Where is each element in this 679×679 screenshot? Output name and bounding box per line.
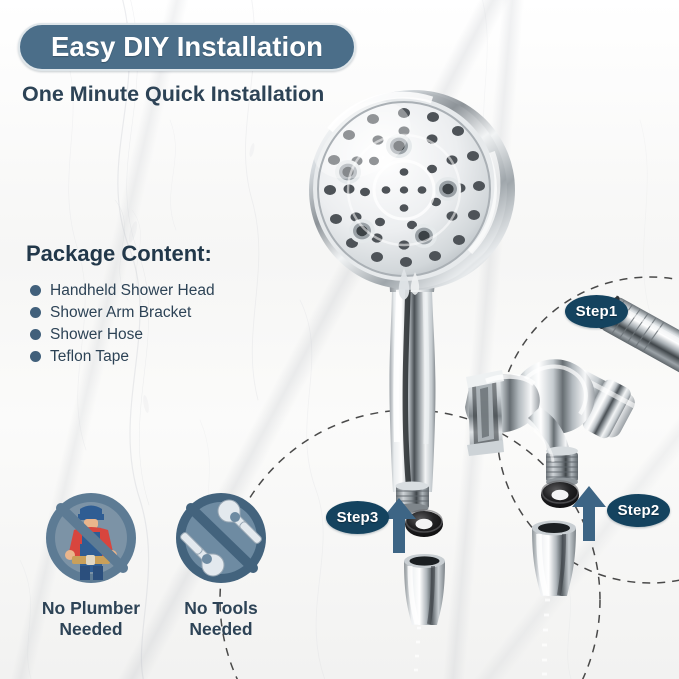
feature-no-tools: No Tools Needed bbox=[166, 492, 276, 640]
no-plumber-icon bbox=[36, 492, 146, 584]
feature-caption: No Tools Needed bbox=[166, 598, 276, 640]
title-badge: Easy DIY Installation bbox=[18, 23, 356, 71]
step-badge-1-label: Step1 bbox=[576, 303, 618, 320]
feature-caption-line2: Needed bbox=[36, 619, 146, 640]
bullet-icon bbox=[30, 307, 41, 318]
list-item: Handheld Shower Head bbox=[30, 281, 215, 300]
step-badge-2-label: Step2 bbox=[618, 502, 660, 519]
package-content-list: Handheld Shower Head Shower Arm Bracket … bbox=[30, 281, 215, 369]
step-badge-3-label: Step3 bbox=[337, 509, 379, 526]
list-item: Shower Hose bbox=[30, 325, 215, 344]
bullet-icon bbox=[30, 285, 41, 296]
feature-caption: No Plumber Needed bbox=[36, 598, 146, 640]
feature-caption-line1: No Plumber bbox=[36, 598, 146, 619]
feature-caption-line2: Needed bbox=[166, 619, 276, 640]
step-badge-2: Step2 bbox=[607, 494, 670, 527]
step-badge-3: Step3 bbox=[326, 501, 389, 534]
no-tools-icon bbox=[166, 492, 276, 584]
title-text: Easy DIY Installation bbox=[51, 31, 323, 63]
list-item: Teflon Tape bbox=[30, 347, 215, 366]
bullet-icon bbox=[30, 329, 41, 340]
bullet-icon bbox=[30, 351, 41, 362]
list-item: Shower Arm Bracket bbox=[30, 303, 215, 322]
package-content-heading: Package Content: bbox=[26, 241, 212, 267]
feature-no-plumber: No Plumber Needed bbox=[36, 492, 146, 640]
subtitle-text: One Minute Quick Installation bbox=[22, 82, 324, 107]
infographic-canvas: Easy DIY Installation One Minute Quick I… bbox=[0, 0, 679, 679]
step-badge-1: Step1 bbox=[565, 295, 628, 328]
list-item-label: Shower Hose bbox=[50, 326, 143, 344]
feature-caption-line1: No Tools bbox=[166, 598, 276, 619]
list-item-label: Teflon Tape bbox=[50, 348, 129, 366]
list-item-label: Shower Arm Bracket bbox=[50, 304, 191, 322]
list-item-label: Handheld Shower Head bbox=[50, 282, 215, 300]
